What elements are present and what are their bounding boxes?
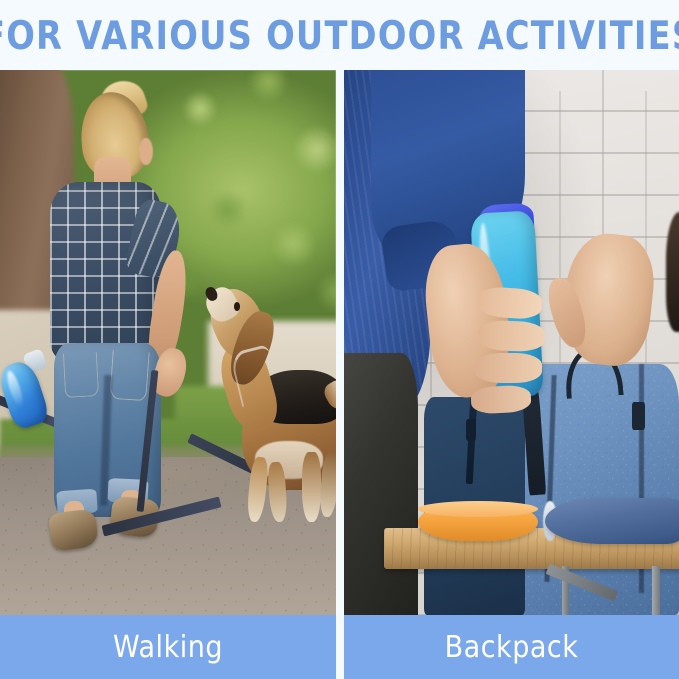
panel-walking: Walking	[0, 70, 336, 679]
photo-walking	[0, 70, 336, 615]
caption-bar-backpack: Backpack	[344, 615, 679, 679]
page-title: FOR VARIOUS OUTDOOR ACTIVITIES	[0, 12, 679, 58]
orange-bowl-rim	[418, 501, 539, 517]
caption-label-backpack: Backpack	[445, 630, 579, 665]
finger-2	[477, 320, 545, 352]
finger-3	[475, 353, 542, 383]
caption-bar-walking: Walking	[0, 615, 336, 679]
panel-row: Walking	[0, 70, 679, 679]
panel-divider	[336, 70, 344, 679]
panel-backpack: Backpack	[344, 70, 679, 679]
backpack-tab	[632, 402, 645, 429]
dog-hind-leg-1	[302, 452, 320, 523]
photo-backpack	[344, 70, 679, 615]
banner-header: FOR VARIOUS OUTDOOR ACTIVITIES	[0, 0, 679, 70]
person-trousers	[344, 353, 418, 615]
jeans-back-pocket	[109, 349, 149, 401]
backpack-zipper-pull	[466, 419, 476, 441]
caption-label-walking: Walking	[113, 630, 223, 665]
bench-leg-2	[652, 566, 659, 615]
rolled-blue-towel	[545, 498, 679, 544]
boy-ear	[139, 138, 152, 165]
product-feature-banner: FOR VARIOUS OUTDOOR ACTIVITIES	[0, 0, 679, 679]
jeans-back-pocket-2	[63, 353, 99, 398]
